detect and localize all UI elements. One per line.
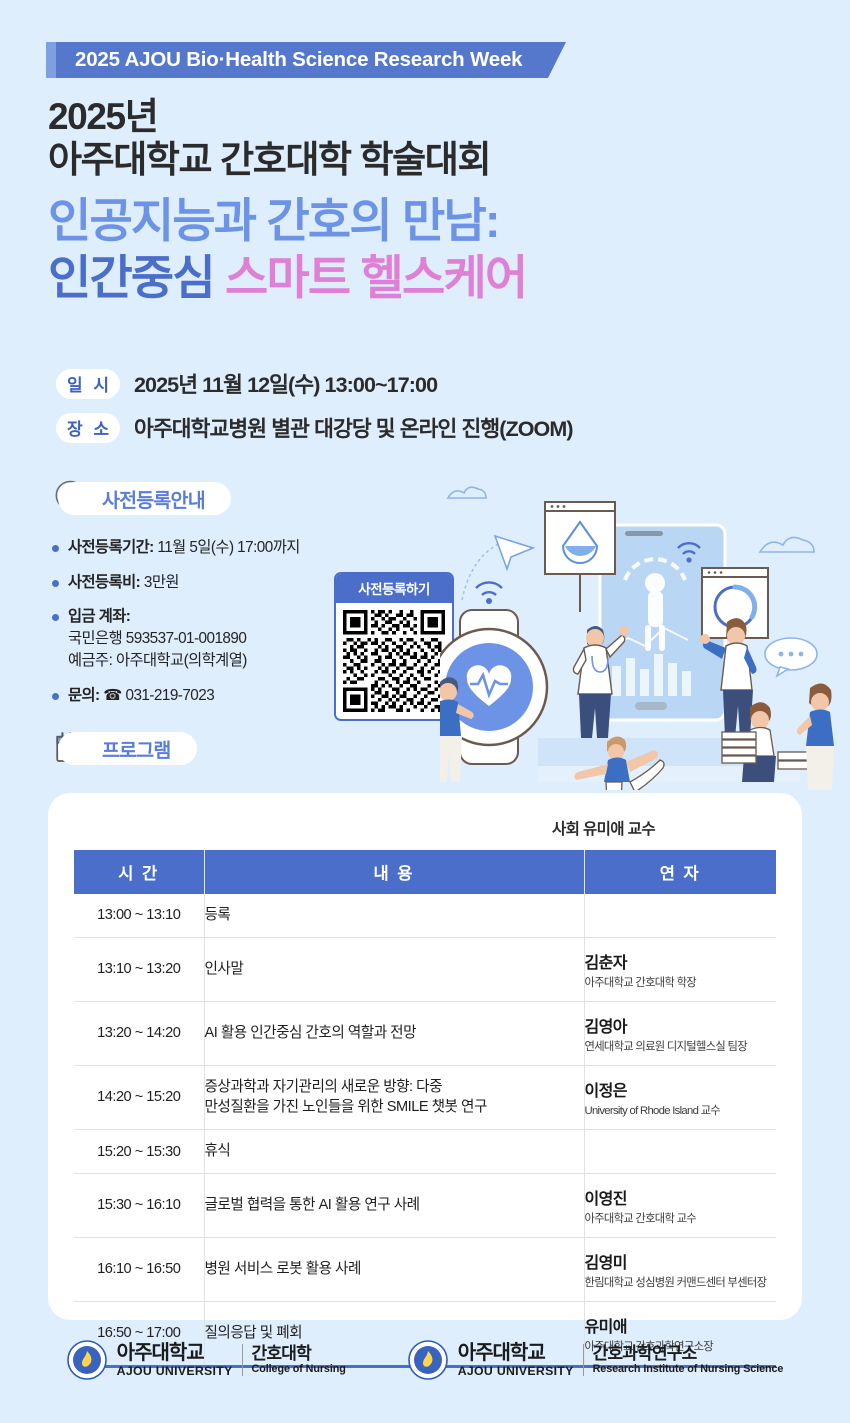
list-item: 사전등록비: 3만원	[52, 572, 352, 594]
logo-university-en: AJOU UNIVERSITY	[117, 1364, 233, 1378]
qr-button-label[interactable]: 사전등록하기	[336, 574, 452, 603]
speaker-name: 유미애	[585, 1313, 777, 1337]
reg-fee-value: 3만원	[140, 574, 179, 591]
person-clapping	[797, 683, 834, 790]
speaker-affiliation: University of Rhode Island 교수	[585, 1102, 777, 1118]
reg-contact-label: 문의:	[68, 687, 100, 704]
illustration-svg	[440, 470, 850, 790]
cell-topic: 글로벌 협력을 통한 AI 활용 연구 사례	[204, 1173, 584, 1237]
speaker-affiliation: 아주대학교 간호대학 교수	[585, 1210, 777, 1226]
place-label: 장 소	[56, 413, 120, 443]
registration-heading-label: 사전등록안내	[58, 482, 231, 515]
svg-text:1973: 1973	[423, 1369, 433, 1374]
svg-text:1973: 1973	[82, 1369, 92, 1374]
table-body: 13:00 ~ 13:10등록13:10 ~ 13:20인사말김춘자아주대학교 …	[74, 894, 776, 1366]
cell-topic: 병원 서비스 로봇 활용 사례	[204, 1237, 584, 1301]
speaker-name: 이영진	[585, 1185, 777, 1209]
cell-topic: AI 활용 인간중심 간호의 역할과 전망	[204, 1001, 584, 1065]
logo-university-en: AJOU UNIVERSITY	[458, 1364, 574, 1378]
speaker-name: 김춘자	[585, 949, 777, 973]
cloud-icon	[760, 537, 814, 552]
table-header: 시 간 내 용 연 자	[74, 850, 776, 894]
health-tech-illustration	[440, 470, 850, 790]
cell-time: 16:10 ~ 16:50	[74, 1237, 204, 1301]
title-theme-pink: 스마트 헬스케어	[225, 251, 526, 304]
reg-account-holder: 예금주: 아주대학교(의학계열)	[68, 650, 247, 672]
place-value: 아주대학교병원 별관 대강당 및 온라인 진행(ZOOM)	[134, 412, 573, 443]
cell-topic: 등록	[204, 894, 584, 937]
cell-time: 13:00 ~ 13:10	[74, 894, 204, 937]
table-row: 14:20 ~ 15:20증상과학과 자기관리의 새로운 방향: 다중만성질환을…	[74, 1065, 776, 1129]
table-row: 16:10 ~ 16:50병원 서비스 로봇 활용 사례김영미한림대학교 성심병…	[74, 1237, 776, 1301]
title-theme-line2: 인간중심 스마트 헬스케어	[48, 250, 526, 307]
list-item: 문의: ☎ 031-219-7023	[52, 685, 352, 707]
cell-time: 15:30 ~ 16:10	[74, 1173, 204, 1237]
speaker-name: 김영미	[585, 1249, 777, 1273]
title-theme-ink: 인간중심	[48, 251, 214, 304]
table-row: 15:20 ~ 15:30휴식	[74, 1130, 776, 1174]
cell-speaker: 이영진아주대학교 간호대학 교수	[584, 1173, 776, 1237]
cell-time: 14:20 ~ 15:20	[74, 1065, 204, 1129]
reg-period-label: 사전등록기간:	[68, 539, 154, 556]
reg-fee-label: 사전등록비:	[68, 574, 140, 591]
bullet-icon	[52, 693, 59, 700]
logo-unit-en: College of Nursing	[252, 1363, 346, 1375]
cell-speaker	[584, 894, 776, 937]
cell-speaker	[584, 1130, 776, 1174]
column-speaker: 연 자	[584, 850, 776, 894]
reg-account-label: 입금 계좌:	[68, 608, 130, 625]
table-row: 13:10 ~ 13:20인사말김춘자아주대학교 간호대학 학장	[74, 937, 776, 1001]
program-card: 사회 유미애 교수 시 간 내 용 연 자 13:00 ~ 13:10등록13:…	[48, 793, 802, 1320]
speaker-affiliation: 한림대학교 성심병원 커맨드센터 부센터장	[585, 1274, 777, 1290]
bullet-icon	[52, 545, 59, 552]
logo-university-ko: 아주대학교	[117, 1343, 233, 1364]
logo-research-institute: 1973 아주대학교 AJOU UNIVERSITY 간호과학연구소 Resea…	[408, 1340, 784, 1380]
reg-period-value: 11월 5일(수) 17:00까지	[154, 539, 300, 556]
moderator-label: 사회 유미애 교수	[552, 817, 655, 839]
reg-contact-value: ☎ 031-219-7023	[100, 687, 215, 704]
date-label: 일 시	[56, 369, 120, 399]
table-row: 13:20 ~ 14:20AI 활용 인간중심 간호의 역할과 전망김영아연세대…	[74, 1001, 776, 1065]
qr-code-icon[interactable]	[336, 603, 452, 719]
logo-divider	[583, 1344, 584, 1376]
logo-unit-en: Research Institute of Nursing Science	[593, 1363, 784, 1375]
list-item: 사전등록기간: 11월 5일(수) 17:00까지	[52, 537, 352, 559]
registration-qr-card[interactable]: 사전등록하기	[334, 572, 454, 721]
event-place-row: 장 소 아주대학교병원 별관 대강당 및 온라인 진행(ZOOM)	[56, 412, 573, 443]
page-title: 2025년 아주대학교 간호대학 학술대회 인공지능과 간호의 만남: 인간중심…	[48, 96, 526, 307]
registration-list: 사전등록기간: 11월 5일(수) 17:00까지 사전등록비: 3만원 입금 …	[52, 537, 352, 719]
list-item: 입금 계좌: 국민은행 593537-01-001890 예금주: 아주대학교(…	[52, 606, 352, 671]
speaker-affiliation: 연세대학교 의료원 디지털헬스실 팀장	[585, 1038, 777, 1054]
event-date-row: 일 시 2025년 11월 12일(수) 13:00~17:00	[56, 368, 573, 399]
ajou-crest-icon: 1973	[408, 1340, 448, 1380]
program-heading-label: 프로그램	[58, 732, 197, 765]
chat-bubble-icon	[765, 638, 817, 676]
wifi-icon	[476, 582, 502, 595]
cell-time: 13:20 ~ 14:20	[74, 1001, 204, 1065]
cell-time: 15:20 ~ 15:30	[74, 1130, 204, 1174]
logo-unit-ko: 간호과학연구소	[593, 1345, 784, 1364]
bullet-icon	[52, 614, 59, 621]
registration-heading: 사전등록안내	[52, 478, 231, 518]
table-header-row: 시 간 내 용 연 자	[74, 850, 776, 894]
speaker-name: 이정은	[585, 1077, 777, 1101]
table-row: 13:00 ~ 13:10등록	[74, 894, 776, 937]
program-heading: 프로그램	[52, 728, 197, 768]
cell-topic: 인사말	[204, 937, 584, 1001]
reg-account-number: 국민은행 593537-01-001890	[68, 628, 247, 650]
cell-topic: 휴식	[204, 1130, 584, 1174]
cell-speaker: 김영아연세대학교 의료원 디지털헬스실 팀장	[584, 1001, 776, 1065]
column-topic: 내 용	[204, 850, 584, 894]
paper-plane-icon	[495, 536, 533, 569]
title-event: 아주대학교 간호대학 학술대회	[48, 139, 526, 182]
footer-logos: 1973 아주대학교 AJOU UNIVERSITY 간호대학 College …	[0, 1340, 850, 1380]
logo-divider	[242, 1344, 243, 1376]
header-banner: 2025 AJOU Bio·Health Science Research We…	[55, 42, 548, 78]
logo-college-of-nursing: 1973 아주대학교 AJOU UNIVERSITY 간호대학 College …	[67, 1340, 346, 1380]
banner-text: 2025 AJOU Bio·Health Science Research We…	[55, 42, 548, 78]
cell-topic: 증상과학과 자기관리의 새로운 방향: 다중만성질환을 가진 노인들을 위한 S…	[204, 1065, 584, 1129]
column-time: 시 간	[74, 850, 204, 894]
speaker-name: 김영아	[585, 1013, 777, 1037]
table-row: 15:30 ~ 16:10글로벌 협력을 통한 AI 활용 연구 사례이영진아주…	[74, 1173, 776, 1237]
qr-code-svg	[343, 610, 445, 712]
date-value: 2025년 11월 12일(수) 13:00~17:00	[134, 368, 437, 399]
logo-unit-ko: 간호대학	[252, 1345, 346, 1364]
cell-speaker: 이정은University of Rhode Island 교수	[584, 1065, 776, 1129]
logo-university-ko: 아주대학교	[458, 1343, 574, 1364]
title-theme-line1: 인공지능과 간호의 만남:	[48, 193, 526, 250]
ajou-crest-icon: 1973	[67, 1340, 107, 1380]
event-info: 일 시 2025년 11월 12일(수) 13:00~17:00 장 소 아주대…	[56, 368, 573, 456]
cell-time: 13:10 ~ 13:20	[74, 937, 204, 1001]
cell-speaker: 김영미한림대학교 성심병원 커맨드센터 부센터장	[584, 1237, 776, 1301]
speaker-affiliation: 아주대학교 간호대학 학장	[585, 974, 777, 990]
bullet-icon	[52, 580, 59, 587]
program-table: 시 간 내 용 연 자 13:00 ~ 13:10등록13:10 ~ 13:20…	[74, 850, 776, 1368]
cloud-icon	[448, 487, 486, 498]
title-year: 2025년	[48, 96, 526, 139]
cell-speaker: 김춘자아주대학교 간호대학 학장	[584, 937, 776, 1001]
